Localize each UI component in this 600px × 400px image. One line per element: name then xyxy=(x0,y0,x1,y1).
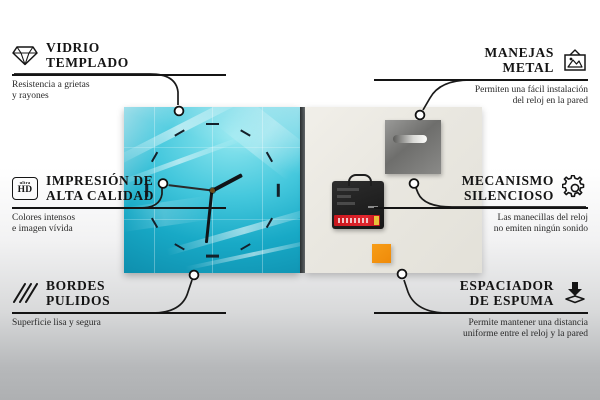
feature-manejas-metal: MANEJAS METAL Permiten una fácil instala… xyxy=(374,45,588,108)
feature-title-line1: IMPRESIÓN DE xyxy=(46,173,153,188)
feature-desc-line1: Superficie lisa y segura xyxy=(12,318,101,328)
divider-rule xyxy=(374,79,588,81)
connector-dot-manejas xyxy=(416,111,425,120)
feature-desc-line2: del reloj en la pared xyxy=(513,96,588,106)
infographic-canvas: VIDRIO TEMPLADO Resistencia a grietas y … xyxy=(0,0,600,400)
feature-desc-line1: Resistencia a grietas xyxy=(12,80,90,90)
feature-title-line2: PULIDOS xyxy=(46,293,110,308)
hd-badge-hd-text: HD xyxy=(18,186,33,196)
feature-desc-line2: y rayones xyxy=(12,91,49,101)
feature-impresion-alta-calidad: ultra HD IMPRESIÓN DE ALTA CALIDAD Color… xyxy=(12,173,226,236)
picture-hanger-icon xyxy=(562,47,588,73)
feature-desc-line2: no emiten ningún sonido xyxy=(494,224,588,234)
diamond-icon xyxy=(12,42,38,68)
feature-desc-line1: Permiten una fácil instalación xyxy=(475,85,588,95)
feature-title-line1: VIDRIO xyxy=(46,40,100,55)
feature-title-line2: SILENCIOSO xyxy=(464,188,554,203)
feature-title-line1: BORDES xyxy=(46,278,105,293)
divider-rule xyxy=(12,312,226,314)
feature-title-line2: ALTA CALIDAD xyxy=(46,188,154,203)
divider-rule xyxy=(374,207,588,209)
feature-desc-line2: e imagen vívida xyxy=(12,224,73,234)
feature-desc-line1: Colores intensos xyxy=(12,213,75,223)
divider-rule xyxy=(12,207,226,209)
feature-mecanismo-silencioso: MECANISMO SILENCIOSO Las manecillas del … xyxy=(374,173,588,236)
gear-icon xyxy=(562,175,588,201)
connector-dot-vidrio xyxy=(175,107,184,116)
feature-title-line2: METAL xyxy=(502,60,554,75)
feature-bordes-pulidos: BORDES PULIDOS Superficie lisa y segura xyxy=(12,278,226,329)
foam-spacer-arrow-icon xyxy=(562,280,588,306)
ultra-hd-badge-icon: ultra HD xyxy=(12,175,38,201)
divider-rule xyxy=(12,74,226,76)
feature-desc-line1: Las manecillas del reloj xyxy=(498,213,588,223)
feature-espaciador-espuma: ESPACIADOR DE ESPUMA Permite mantener un… xyxy=(374,278,588,341)
feature-title-line2: TEMPLADO xyxy=(46,55,129,70)
feature-title-line1: ESPACIADOR xyxy=(460,278,554,293)
feature-vidrio-templado: VIDRIO TEMPLADO Resistencia a grietas y … xyxy=(12,40,226,103)
polished-edges-icon xyxy=(12,280,38,306)
feature-title-line1: MECANISMO xyxy=(462,173,554,188)
divider-rule xyxy=(374,312,588,314)
feature-desc-line1: Permite mantener una distancia xyxy=(469,318,589,328)
feature-title-line2: DE ESPUMA xyxy=(469,293,554,308)
feature-desc-line2: uniforme entre el reloj y la pared xyxy=(463,329,588,339)
feature-title-line1: MANEJAS xyxy=(485,45,554,60)
